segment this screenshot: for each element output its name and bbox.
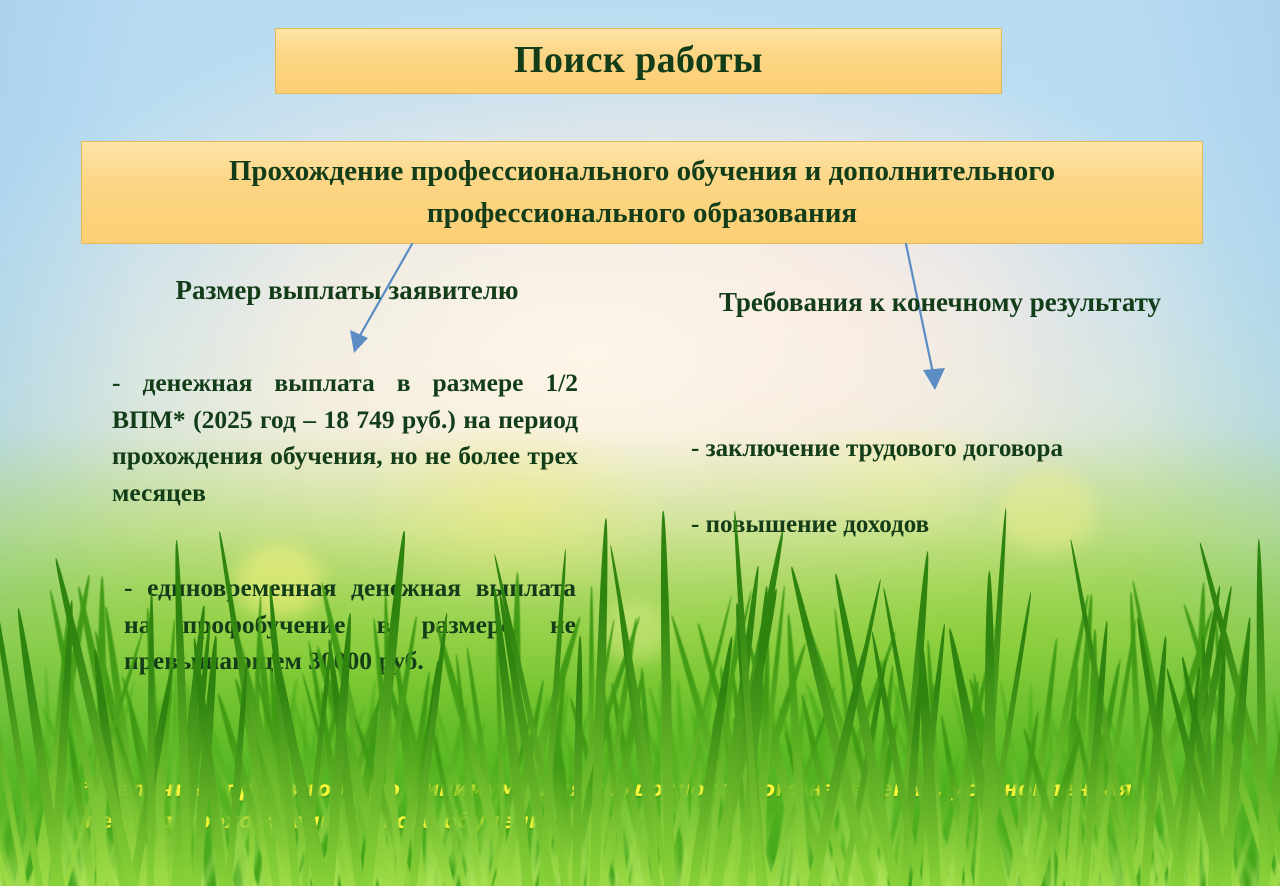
left-column-heading: Размер выплаты заявителю bbox=[112, 273, 582, 308]
title-banner: Поиск работы bbox=[275, 28, 1002, 94]
left-column-bullet-1: - денежная выплата в размере 1/2 ВПМ* (2… bbox=[112, 365, 578, 512]
footnote-text: * величина прожиточного минимума для тру… bbox=[84, 774, 1204, 838]
subtitle-banner: Прохождение профессионального обучения и… bbox=[81, 141, 1203, 244]
left-column-bullet-2: - единовременная денежная выплата на про… bbox=[124, 570, 576, 680]
right-column-bullet-1: - заключение трудового договора bbox=[691, 432, 1211, 466]
slide-canvas: Поиск работы Прохождение профессионально… bbox=[0, 0, 1280, 886]
right-column-heading: Требования к конечному результату bbox=[690, 285, 1190, 320]
right-column-bullet-2: - повышение доходов bbox=[691, 508, 1211, 542]
page-title: Поиск работы bbox=[514, 41, 763, 81]
subtitle-text: Прохождение профессионального обучения и… bbox=[108, 151, 1176, 233]
